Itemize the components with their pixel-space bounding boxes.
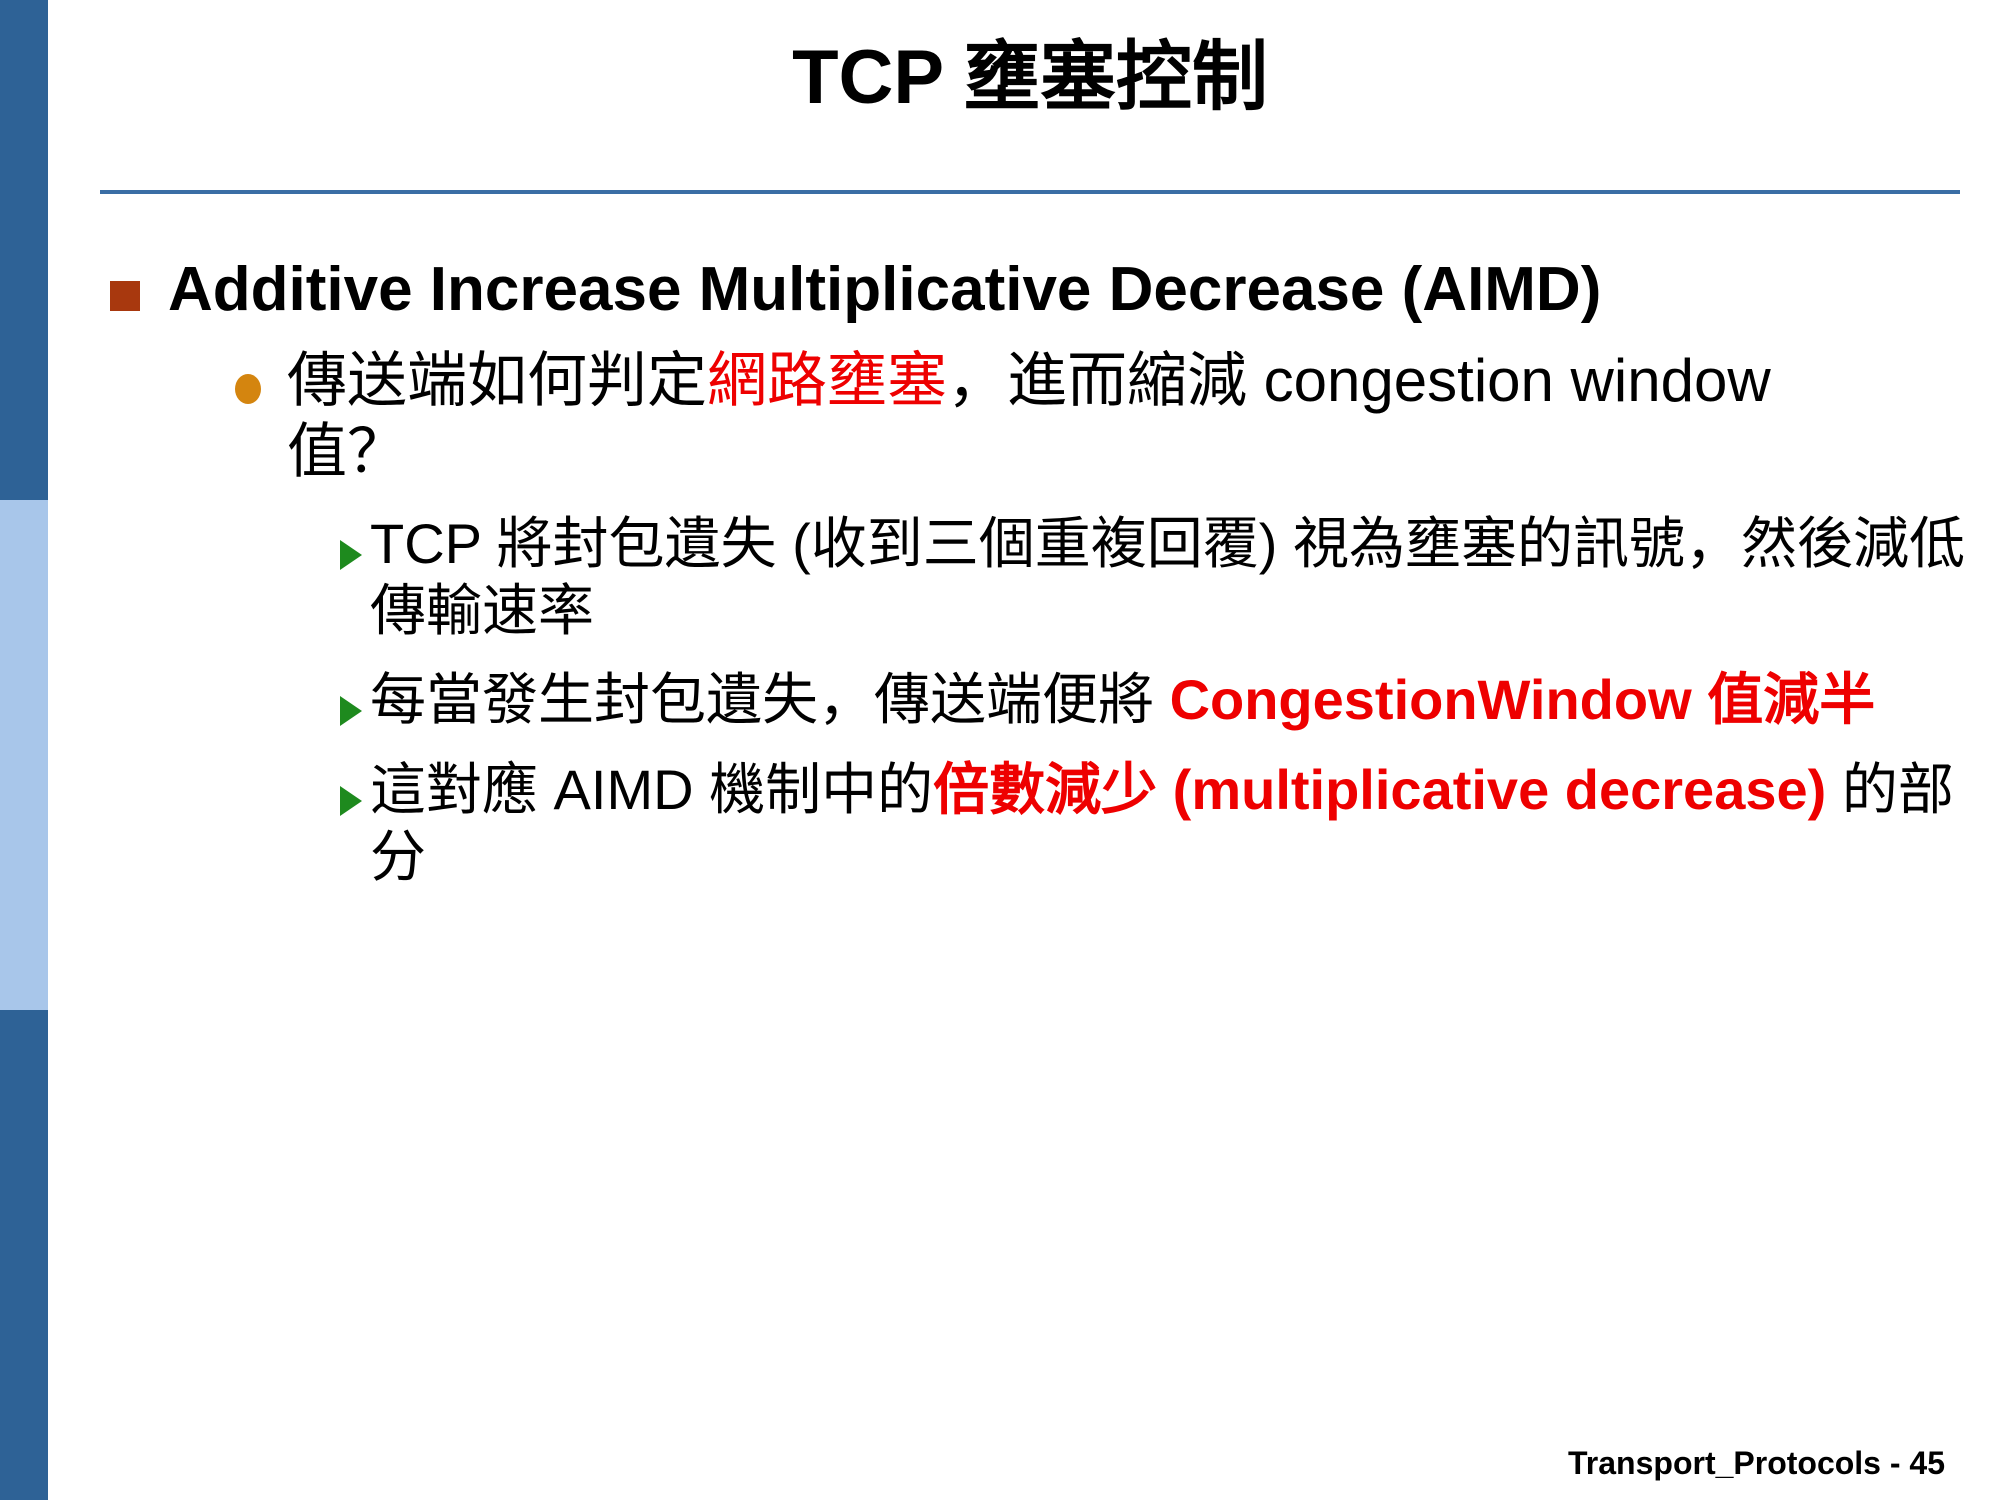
- bullet-level2: 傳送端如何判定網路壅塞，進而縮減 congestion window 值？: [235, 346, 1980, 488]
- square-bullet-icon: [110, 281, 140, 311]
- bullet-level3-1-label: TCP 將封包遺失 (收到三個重複回覆) 視為壅塞的訊號，然後減低傳輸速率: [370, 510, 1980, 644]
- triangle-bullet-icon: [340, 540, 362, 570]
- segment: 每當發生封包遺失，傳送端便將: [370, 668, 1170, 731]
- segment-highlight: CongestionWindow 值減半: [1170, 668, 1876, 731]
- title-divider-rule: [100, 190, 1960, 194]
- sidebar-band-bottom: [0, 1010, 48, 1500]
- triangle-bullet-icon: [340, 696, 362, 726]
- triangle-bullet-icon: [340, 786, 362, 816]
- bullet-level3-3: 這對應 AIMD 機制中的倍數減少 (multiplicative decrea…: [340, 756, 1980, 890]
- segment: 這對應 AIMD 機制中的: [370, 758, 933, 821]
- segment: TCP 將封包遺失 (收到三個重複回覆) 視為壅塞的訊號，然後減低傳輸速率: [370, 512, 1965, 642]
- circle-bullet-icon: [235, 374, 261, 404]
- bullet-level3-2-label: 每當發生封包遺失，傳送端便將 CongestionWindow 值減半: [370, 666, 1875, 733]
- bullet-level2-label: 傳送端如何判定網路壅塞，進而縮減 congestion window 值？: [287, 346, 1847, 488]
- bullet-level1: Additive Increase Multiplicative Decreas…: [110, 255, 1980, 324]
- bullet-level3-1: TCP 將封包遺失 (收到三個重複回覆) 視為壅塞的訊號，然後減低傳輸速率: [340, 510, 1980, 644]
- bullet-level3-3-label: 這對應 AIMD 機制中的倍數減少 (multiplicative decrea…: [370, 756, 1980, 890]
- sidebar-band-top: [0, 0, 48, 500]
- bullet-level1-label: Additive Increase Multiplicative Decreas…: [168, 255, 1601, 324]
- slide-footer: Transport_Protocols - 45: [1568, 1445, 1945, 1482]
- bullet-level2-highlight: 網路壅塞: [707, 347, 947, 414]
- bullet-level3-2: 每當發生封包遺失，傳送端便將 CongestionWindow 值減半: [340, 666, 1980, 733]
- bullet-level2-part1: 傳送端如何判定: [287, 347, 707, 414]
- page-title: TCP 壅塞控制: [100, 40, 1960, 116]
- segment-highlight: 倍數減少 (multiplicative decrease): [933, 758, 1826, 821]
- title-area: TCP 壅塞控制: [100, 40, 1960, 200]
- slide-body: Additive Increase Multiplicative Decreas…: [110, 255, 1980, 890]
- sidebar-band-middle: [0, 500, 48, 1010]
- left-sidebar-decoration: [0, 0, 48, 1500]
